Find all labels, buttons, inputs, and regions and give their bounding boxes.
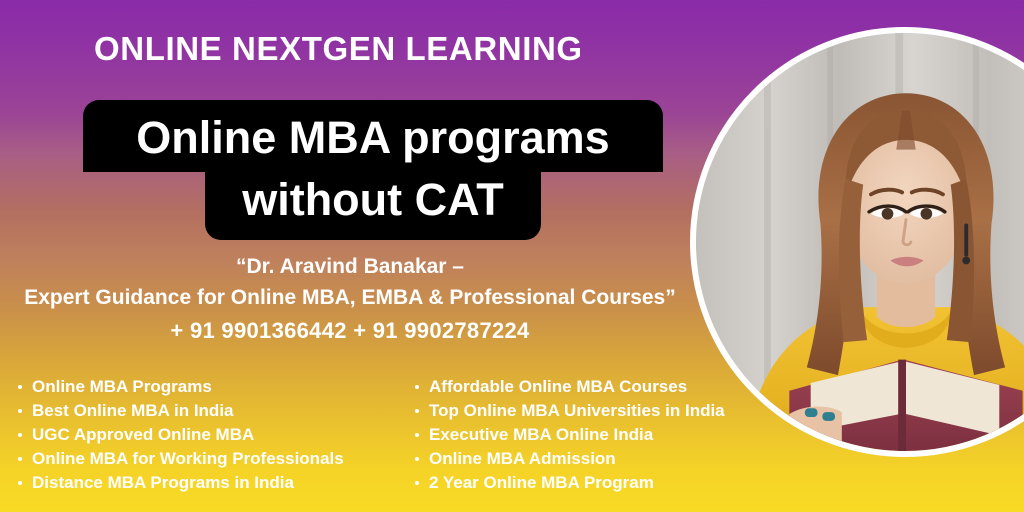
list-item: Online MBA for Working Professionals xyxy=(18,447,344,471)
bullet-column-right: Affordable Online MBA Courses Top Online… xyxy=(415,375,725,495)
brand-heading: ONLINE NEXTGEN LEARNING xyxy=(94,28,624,70)
headline-line-2-wrapper: without CAT xyxy=(83,164,663,240)
list-item: Distance MBA Programs in India xyxy=(18,471,344,495)
expert-quote-block: “Dr. Aravind Banakar – Expert Guidance f… xyxy=(0,252,700,348)
phone-numbers[interactable]: + 91 9901366442 + 91 9902787224 xyxy=(0,314,700,348)
list-item: Top Online MBA Universities in India xyxy=(415,399,725,423)
headline: Online MBA programs without CAT xyxy=(83,100,663,240)
bullet-list-left: Online MBA Programs Best Online MBA in I… xyxy=(18,375,344,495)
bullet-column-left: Online MBA Programs Best Online MBA in I… xyxy=(18,375,344,495)
list-item: UGC Approved Online MBA xyxy=(18,423,344,447)
quote-line-1: “Dr. Aravind Banakar – xyxy=(0,252,700,282)
list-item: Online MBA Admission xyxy=(415,447,725,471)
list-item: Online MBA Programs xyxy=(18,375,344,399)
headline-line-2: without CAT xyxy=(205,164,541,240)
promo-banner: ONLINE NEXTGEN LEARNING Online MBA progr… xyxy=(0,0,1024,512)
quote-line-2: Expert Guidance for Online MBA, EMBA & P… xyxy=(0,282,700,314)
list-item: Best Online MBA in India xyxy=(18,399,344,423)
list-item: Executive MBA Online India xyxy=(415,423,725,447)
list-item: 2 Year Online MBA Program xyxy=(415,471,725,495)
bullet-list-right: Affordable Online MBA Courses Top Online… xyxy=(415,375,725,495)
list-item: Affordable Online MBA Courses xyxy=(415,375,725,399)
keyword-bullets: Online MBA Programs Best Online MBA in I… xyxy=(0,375,800,500)
headline-line-1: Online MBA programs xyxy=(83,100,663,172)
